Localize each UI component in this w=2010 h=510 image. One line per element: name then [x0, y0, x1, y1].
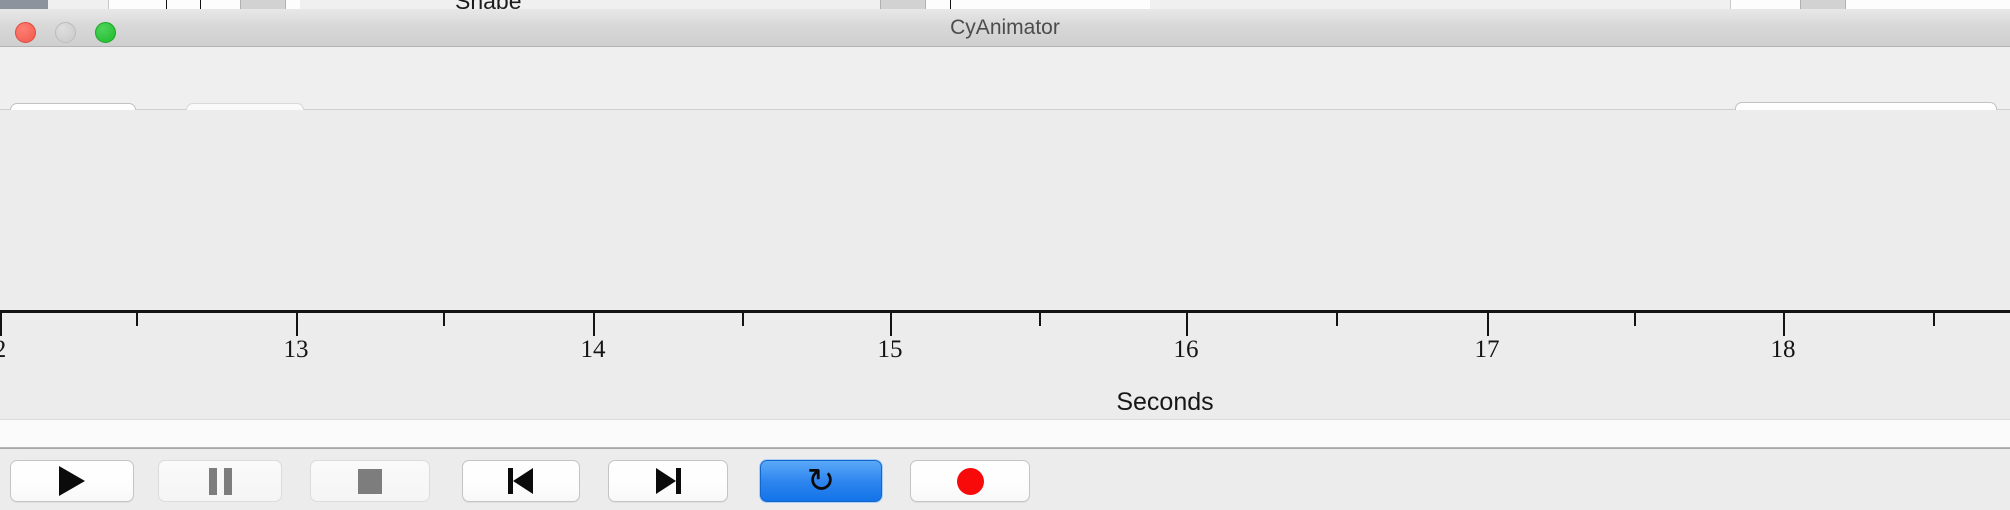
timeline-ruler[interactable]: 2131415161718 Seconds [0, 310, 2010, 420]
bg-grip [240, 0, 286, 9]
ruler-tick-label: 17 [1475, 336, 1500, 364]
skip-forward-icon [655, 468, 681, 494]
ruler-tick-major [296, 313, 298, 336]
toolbar: Clear All Frames [0, 47, 2010, 110]
ruler-tick-major [1186, 313, 1188, 336]
bg-dark-panel [0, 0, 48, 9]
step-forward-button[interactable] [608, 460, 728, 502]
ruler-axis-title: Seconds [0, 388, 2010, 417]
step-back-button[interactable] [462, 460, 580, 502]
pause-button[interactable] [158, 460, 282, 502]
bg-grip [880, 0, 926, 9]
bg-tick [166, 0, 167, 9]
loop-icon: ↻ [807, 464, 836, 498]
ruler-tick-minor [1634, 313, 1636, 326]
timeline-scrollbar-track[interactable] [0, 419, 2010, 448]
stop-button[interactable] [310, 460, 430, 502]
stop-icon [358, 469, 382, 494]
play-icon [59, 466, 85, 496]
bg-tick [950, 0, 951, 9]
bg-tick [200, 0, 201, 9]
ruler-tick-label: 15 [878, 336, 903, 364]
ruler-axis-title-text: Seconds [1116, 388, 1213, 416]
ruler-tick-label: 14 [581, 336, 606, 364]
ruler-tick-minor [1933, 313, 1935, 326]
ruler-tick-minor [136, 313, 138, 326]
ruler-tick-major [593, 313, 595, 336]
ruler-tick-major [1783, 313, 1785, 336]
record-icon [957, 468, 984, 495]
cyanimator-window: Shape CyAnimator Clear All Frames [0, 0, 2010, 510]
loop-button[interactable]: ↻ [760, 460, 882, 502]
ruler-tick-minor [443, 313, 445, 326]
ruler-tick-label: 2 [0, 336, 6, 364]
ruler-tick-label: 13 [284, 336, 309, 364]
window-title: CyAnimator [0, 9, 2010, 47]
bg-grip [1800, 0, 1846, 9]
pause-icon [209, 468, 232, 495]
ruler-tick-major [890, 313, 892, 336]
record-button[interactable] [910, 460, 1030, 502]
ruler-tick-minor [1336, 313, 1338, 326]
playback-control-bar: ↻ Animation Speed: [0, 448, 2010, 510]
ruler-tick-label: 18 [1771, 336, 1796, 364]
ruler-tick-minor [1039, 313, 1041, 326]
ruler-baseline [0, 310, 2010, 313]
title-bar: CyAnimator [0, 9, 2010, 47]
ruler-tick-major [1487, 313, 1489, 336]
ruler-tick-minor [742, 313, 744, 326]
skip-back-icon [508, 468, 534, 494]
play-button[interactable] [10, 460, 134, 502]
ruler-tick-label: 16 [1174, 336, 1199, 364]
ruler-tick-major [0, 313, 2, 336]
